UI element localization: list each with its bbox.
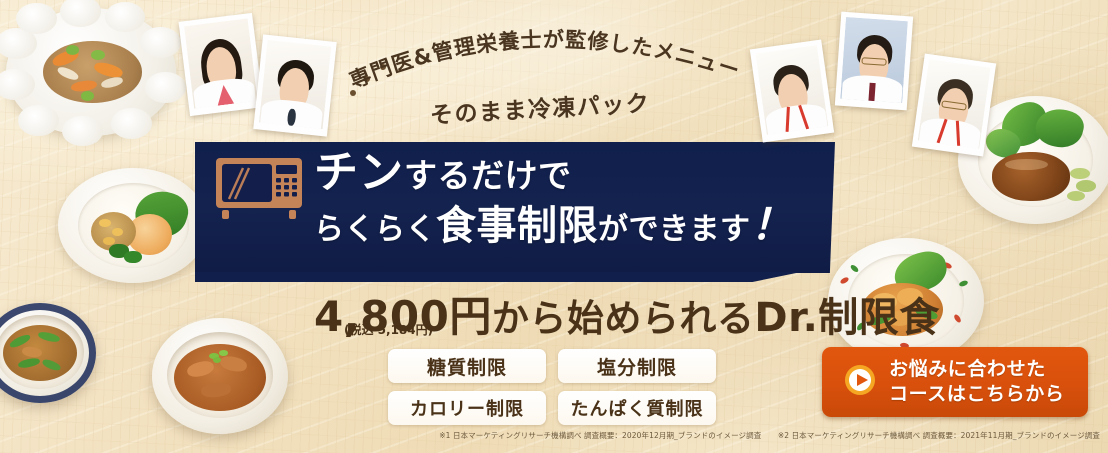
dish-photo-shrimp-broccoli	[58, 168, 208, 283]
footnotes: ※1 日本マーケティングリサーチ機構調べ 調査概要：2020年12月期_ブランド…	[0, 430, 1100, 441]
cta-line-1: お悩みに合わせた	[889, 358, 1046, 380]
dish-photo-pepper-stirfry-bowl	[0, 303, 96, 403]
cta-label: お悩みに合わせた コースはこちらから	[889, 357, 1064, 407]
doctor-photo-male-3	[835, 12, 913, 111]
dish-photo-braised-pork-bowl	[152, 318, 288, 434]
headline: チンするだけで らくらく食事制限ができます！	[314, 150, 793, 254]
doctor-photo-male-1	[253, 34, 337, 136]
doctor-photo-female-1	[178, 13, 263, 116]
tag-sugar-restriction[interactable]: 糖質制限	[388, 349, 546, 383]
price-line: 4,800円から始められるDr.制限食 (税込 5,184円)	[314, 283, 940, 344]
footnote-1: ※1 日本マーケティングリサーチ機構調べ 調査概要：2020年12月期_ブランド…	[439, 431, 761, 440]
headline-exclamation: ！	[751, 200, 794, 249]
headline-band-shadow	[195, 272, 801, 282]
promo-banner: 専門医&管理栄養士が監修したメニューを そのまま冷凍パック	[0, 0, 1108, 453]
headline-line-1: チンするだけで	[314, 150, 793, 199]
price-from-label: から始められる	[492, 288, 755, 342]
headline-rakuraku: らくらく	[314, 212, 436, 247]
headline-line-2: らくらく食事制限ができます！	[314, 201, 793, 254]
footnote-2: ※2 日本マーケティングリサーチ機構調べ 調査概要：2021年11月期_ブランド…	[778, 431, 1100, 440]
headline-shokuji-seigen: 食事制限	[436, 203, 598, 249]
dish-photo-vegetable-stirfry	[6, 8, 176, 136]
cta-button[interactable]: お悩みに合わせた コースはこちらから	[822, 347, 1088, 417]
tag-salt-restriction[interactable]: 塩分制限	[558, 349, 716, 383]
catch-copy-line1: 専門医&管理栄養士が監修したメニューを	[319, 5, 743, 93]
headline-line1-rest: するだけで	[404, 156, 572, 195]
headline-dekimasu: ができます	[598, 212, 751, 247]
play-circle-icon	[844, 364, 876, 401]
cta-line-2: コースはこちらから	[889, 383, 1064, 405]
product-name: Dr.制限食	[754, 285, 939, 343]
doctor-photo-male-4	[912, 53, 996, 156]
microwave-icon	[216, 158, 302, 225]
catch-copy: 専門医&管理栄養士が監修したメニューを そのまま冷凍パック	[330, 24, 750, 134]
price-tax-note: (税込 5,184円)	[344, 321, 433, 338]
headline-chin: チン	[314, 147, 404, 198]
restriction-tags: 糖質制限 塩分制限 カロリー制限 たんぱく質制限	[388, 349, 716, 425]
doctor-photo-male-2	[750, 39, 834, 142]
tag-protein-restriction[interactable]: たんぱく質制限	[558, 391, 716, 425]
tag-calorie-restriction[interactable]: カロリー制限	[388, 391, 546, 425]
